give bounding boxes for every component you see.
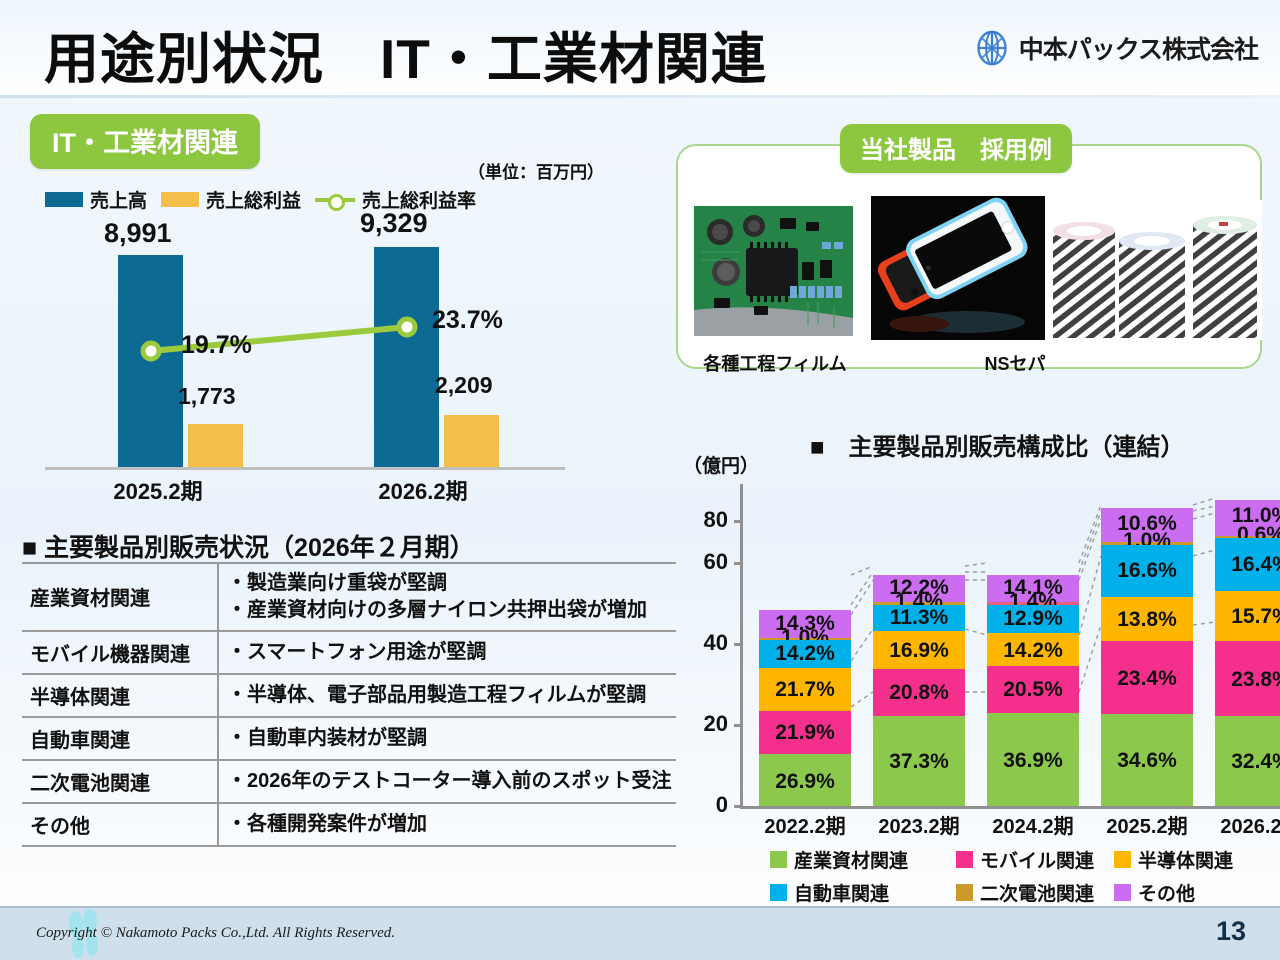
ytick-label-80: 80 [676, 507, 728, 533]
legend-label-battery: 二次電池関連 [980, 879, 1094, 906]
legend-item-battery: 二次電池関連 [956, 879, 1114, 906]
legend-item-semiconductor: 半導体関連 [1114, 846, 1240, 873]
segment-industrial-2025: 34.6% [1101, 714, 1193, 806]
row-category: モバイル機器関連 [22, 631, 218, 674]
legend-swatch-semiconductor [1114, 851, 1131, 868]
product-caption-film: 各種工程フィルム [683, 350, 867, 376]
row-desc-line: ・産業資材向けの多層ナイロン共押出袋が増加 [227, 597, 672, 624]
stacked-chart-legend: 産業資材関連 モバイル関連 半導体関連 自動車関連 二次電池関連 その他 [770, 846, 1240, 906]
company-logo: 中本パックス株式会社 [974, 30, 1258, 66]
segment-automotive-2022: 14.2% [759, 640, 851, 668]
ytick [734, 805, 743, 808]
globe-mark-icon [974, 30, 1010, 66]
value-gross-profit-2026: 2,209 [435, 372, 493, 399]
legend-swatch-sales [45, 192, 83, 207]
segment-label: 11.3% [873, 606, 965, 630]
segment-semiconductor-2022: 21.7% [759, 668, 851, 711]
segment-semiconductor-2024: 14.2% [987, 633, 1079, 666]
segment-label: 20.5% [987, 678, 1079, 702]
segment-automotive-2024: 12.9% [987, 605, 1079, 633]
table-row: 二次電池関連 ・2026年のテストコーター導入前のスポット受注 [22, 760, 676, 803]
company-name: 中本パックス株式会社 [1019, 30, 1258, 66]
table-row: 半導体関連 ・半導体、電子部品用製造工程フィルムが堅調 [22, 674, 676, 717]
value-gross-profit-2025: 1,773 [178, 383, 236, 410]
segment-label: 32.4% [1215, 750, 1280, 774]
legend-item-gross-profit: 売上総利益 [161, 186, 301, 213]
ytick-label-20: 20 [676, 711, 728, 737]
row-desc-line: ・自動車内装材が堅調 [227, 725, 672, 752]
page-number: 13 [1216, 916, 1246, 947]
legend-swatch-other [1114, 884, 1131, 901]
segment-label: 20.8% [873, 681, 965, 705]
segment-label: 21.7% [759, 678, 851, 702]
stacked-xlabel-2023: 2023.2期 [863, 810, 975, 839]
segment-label: 34.6% [1101, 749, 1193, 773]
ytick [734, 520, 743, 523]
row-category: 産業資材関連 [22, 563, 218, 631]
row-description: ・製造業向け重袋が堅調 ・産業資材向けの多層ナイロン共押出袋が増加 [218, 563, 676, 631]
xaxis-label-2026: 2026.2期 [328, 474, 518, 506]
film-rolls-photo [1047, 200, 1262, 340]
segment-semiconductor-2025: 13.8% [1101, 597, 1193, 641]
section-badge-it: IT・工業材関連 [30, 114, 260, 169]
stacked-bar-2024: 14.1% 1.4% 12.9% 14.2% 20.5% 36.9% [987, 575, 1079, 806]
section-badge-products: 当社製品 採用例 [840, 124, 1072, 173]
segment-mobile-2025: 23.4% [1101, 641, 1193, 714]
ytick-label-60: 60 [676, 549, 728, 575]
stacked-xlabel-2022: 2022.2期 [749, 810, 861, 839]
stacked-xlabel-2026: 2026.2期 [1205, 810, 1280, 839]
legend-label-other: その他 [1138, 879, 1195, 906]
row-category: 半導体関連 [22, 674, 218, 717]
stacked-xlabel-2025: 2025.2期 [1091, 810, 1203, 839]
table-row: その他 ・各種開発案件が増加 [22, 803, 676, 846]
segment-automotive-2025: 16.6% [1101, 545, 1193, 597]
ytick [734, 643, 743, 646]
legend-item-industrial: 産業資材関連 [770, 846, 956, 873]
legend-swatch-gross-profit [161, 192, 199, 207]
row-description: ・自動車内装材が堅調 [218, 717, 676, 760]
legend-swatch-mobile [956, 851, 973, 868]
ytick [734, 724, 743, 727]
legend-item-mobile: モバイル関連 [956, 846, 1114, 873]
segment-label: 16.9% [873, 639, 965, 663]
segment-mobile-2023: 20.8% [873, 669, 965, 716]
stacked-bar-2022: 14.3% 1.0% 14.2% 21.7% 21.9% 26.9% [759, 610, 851, 806]
segment-label: 14.2% [987, 639, 1079, 663]
xaxis [740, 806, 1280, 809]
legend-label-sales: 売上高 [90, 186, 147, 213]
product-mix-stacked-chart: 0 20 40 60 80 14.3% 1.0% 1 [676, 470, 1280, 840]
copyright-text: Copyright © Nakamoto Packs Co.,Ltd. All … [36, 925, 395, 942]
circuit-board-photo [694, 206, 853, 336]
legend-swatch-automotive [770, 884, 787, 901]
row-desc-line: ・各種開発案件が増加 [227, 811, 672, 838]
row-desc-line: ・2026年のテストコーター導入前のスポット受注 [227, 768, 672, 795]
segment-label: 16.4% [1215, 553, 1280, 577]
it-bar-chart [45, 215, 565, 470]
legend-label-gross-profit: 売上総利益 [206, 186, 301, 213]
row-desc-line: ・スマートフォン用途が堅調 [227, 639, 672, 666]
header-divider [0, 95, 1280, 98]
sales-table-heading: ■ 主要製品別販売状況（2026年２月期） [22, 528, 475, 564]
legend-swatch-industrial [770, 851, 787, 868]
value-sales-2025: 8,991 [104, 218, 172, 249]
stacked-bar-2026: 11.0% 0.6% 16.4% 15.7% 23.8% 32.4% [1215, 500, 1280, 806]
row-description: ・半導体、電子部品用製造工程フィルムが堅調 [218, 674, 676, 717]
segment-industrial-2026: 32.4% [1215, 716, 1280, 806]
row-category: その他 [22, 803, 218, 846]
value-gp-rate-2025: 19.7% [181, 331, 252, 360]
segment-industrial-2022: 26.9% [759, 754, 851, 806]
ytick-label-0: 0 [676, 792, 728, 818]
stacked-bar-2023: 12.2% 1.4% 11.3% 16.9% 20.8% 37.3% [873, 575, 965, 806]
row-description: ・スマートフォン用途が堅調 [218, 631, 676, 674]
legend-label-semiconductor: 半導体関連 [1138, 846, 1233, 873]
value-sales-2026: 9,329 [360, 208, 428, 239]
segment-mobile-2022: 21.9% [759, 711, 851, 754]
segment-semiconductor-2026: 15.7% [1215, 591, 1280, 641]
row-category: 二次電池関連 [22, 760, 218, 803]
stacked-chart-title: ■ 主要製品別販売構成比（連結） [810, 427, 1185, 462]
gp-rate-line [45, 215, 565, 470]
row-desc-line: ・製造業向け重袋が堅調 [227, 570, 672, 597]
segment-label: 13.8% [1101, 608, 1193, 632]
table-row: モバイル機器関連 ・スマートフォン用途が堅調 [22, 631, 676, 674]
unit-note: （単位：百万円） [468, 158, 604, 183]
segment-industrial-2023: 37.3% [873, 716, 965, 806]
segment-label: 37.3% [873, 750, 965, 774]
slide-header: 用途別状況 IT・工業材関連 中本パックス株式会社 [0, 0, 1280, 96]
segment-automotive-2023: 11.3% [873, 605, 965, 631]
segment-industrial-2024: 36.9% [987, 713, 1079, 806]
segment-label: 36.9% [987, 749, 1079, 773]
legend-item-automotive: 自動車関連 [770, 879, 956, 906]
ytick [734, 562, 743, 565]
segment-semiconductor-2023: 16.9% [873, 631, 965, 669]
xaxis-label-2025: 2025.2期 [63, 474, 253, 506]
legend-marker-gp-rate [315, 192, 355, 207]
smartphone-photo [871, 196, 1045, 340]
legend-item-other: その他 [1114, 879, 1240, 906]
legend-item-sales: 売上高 [45, 186, 147, 213]
segment-label: 21.9% [759, 721, 851, 745]
table-row: 自動車関連 ・自動車内装材が堅調 [22, 717, 676, 760]
segment-label: 16.6% [1101, 559, 1193, 583]
segment-label: 15.7% [1215, 605, 1280, 629]
stacked-bar-2025: 10.6% 1.0% 16.6% 13.8% 23.4% 34.6% [1101, 508, 1193, 806]
row-desc-line: ・半導体、電子部品用製造工程フィルムが堅調 [227, 682, 672, 709]
product-caption-nssepa: NSセパ [935, 350, 1095, 376]
segment-mobile-2026: 23.8% [1215, 641, 1280, 716]
segment-automotive-2026: 16.4% [1215, 538, 1280, 591]
row-description: ・2026年のテストコーター導入前のスポット受注 [218, 760, 676, 803]
segment-label: 14.2% [759, 642, 851, 666]
table-row: 産業資材関連 ・製造業向け重袋が堅調 ・産業資材向けの多層ナイロン共押出袋が増加 [22, 563, 676, 631]
value-gp-rate-2026: 23.7% [432, 306, 503, 335]
legend-swatch-battery [956, 884, 973, 901]
stacked-xlabel-2024: 2024.2期 [977, 810, 1089, 839]
legend-label-mobile: モバイル関連 [980, 846, 1094, 873]
sales-table: 産業資材関連 ・製造業向け重袋が堅調 ・産業資材向けの多層ナイロン共押出袋が増加… [22, 562, 676, 847]
segment-label: 26.9% [759, 770, 851, 794]
row-description: ・各種開発案件が増加 [218, 803, 676, 846]
segment-label: 23.4% [1101, 667, 1193, 691]
legend-label-automotive: 自動車関連 [794, 879, 889, 906]
slide: 用途別状況 IT・工業材関連 中本パックス株式会社 IT・工業材関連 （単位：百… [0, 0, 1280, 960]
legend-label-industrial: 産業資材関連 [794, 846, 908, 873]
page-title: 用途別状況 IT・工業材関連 [44, 14, 767, 94]
row-category: 自動車関連 [22, 717, 218, 760]
segment-label: 23.8% [1215, 668, 1280, 692]
segment-label: 12.9% [987, 607, 1079, 631]
ytick-label-40: 40 [676, 630, 728, 656]
segment-mobile-2024: 20.5% [987, 666, 1079, 713]
